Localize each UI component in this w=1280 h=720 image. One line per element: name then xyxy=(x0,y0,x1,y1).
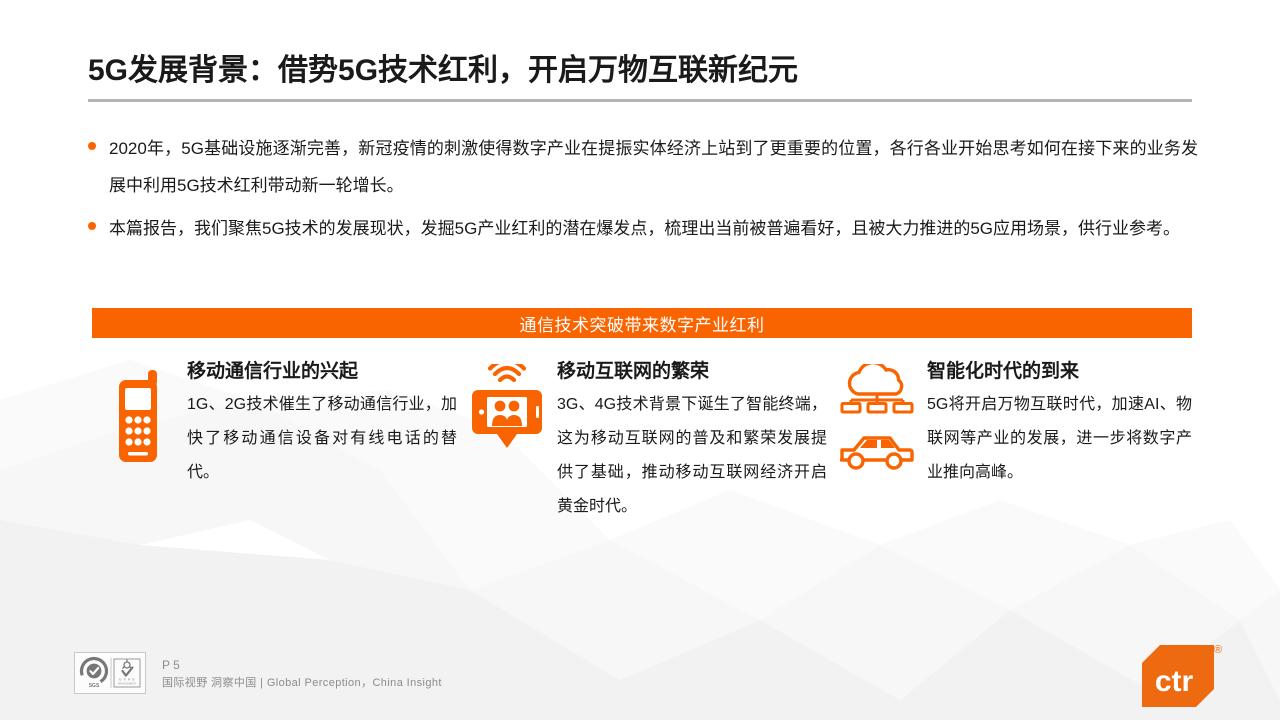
svg-text:SGS: SGS xyxy=(89,683,100,689)
list-item: 本篇报告，我们聚焦5G技术的发展现状，发掘5G产业红利的潜在爆发点，梳理出当前被… xyxy=(88,210,1198,247)
feature-icon-wrap xyxy=(827,358,927,474)
feature-body: 智能化时代的到来 5G将开启万物互联时代，加速AI、物联网等产业的发展，进一步将… xyxy=(927,358,1192,490)
section-banner-label: 通信技术突破带来数字产业红利 xyxy=(520,311,765,336)
feature-description: 5G将开启万物互联时代，加速AI、物联网等产业的发展，进一步将数字产业推向高峰。 xyxy=(927,388,1192,490)
feature-body: 移动通信行业的兴起 1G、2G技术催生了移动通信行业，加快了移动通信设备对有线电… xyxy=(187,358,457,490)
feature-heading: 移动通信行业的兴起 xyxy=(187,358,457,386)
page-number: P 5 xyxy=(162,656,442,674)
feature-heading: 智能化时代的到来 xyxy=(927,358,1192,386)
bullet-text: 2020年，5G基础设施逐渐完善，新冠疫情的刺激使得数字产业在提振实体经济上站到… xyxy=(109,130,1198,204)
feature-heading: 移动互联网的繁荣 xyxy=(557,358,827,386)
feature-body: 移动互联网的繁荣 3G、4G技术背景下诞生了智能终端，这为移动互联网的普及和繁荣… xyxy=(557,358,827,524)
feature-icon-wrap xyxy=(92,358,187,464)
page-title: 5G发展背景：借势5G技术红利，开启万物互联新纪元 xyxy=(88,52,1192,90)
bullet-dot-icon xyxy=(88,142,96,150)
car-icon xyxy=(838,430,916,474)
feature-column-3: 智能化时代的到来 5G将开启万物互联时代，加速AI、物联网等产业的发展，进一步将… xyxy=(827,358,1192,524)
title-block: 5G发展背景：借势5G技术红利，开启万物互联新纪元 xyxy=(88,52,1192,102)
slide-canvas: 5G发展背景：借势5G技术红利，开启万物互联新纪元 2020年，5G基础设施逐渐… xyxy=(0,0,1280,720)
feature-column-1: 移动通信行业的兴起 1G、2G技术催生了移动通信行业，加快了移动通信设备对有线电… xyxy=(92,358,457,524)
bullet-text: 本篇报告，我们聚焦5G技术的发展现状，发掘5G产业红利的潜在爆发点，梳理出当前被… xyxy=(109,210,1198,247)
footer: SGS U K A S MANAGEMENT P 5 国际视野 洞察中国 | G… xyxy=(74,652,442,694)
feature-description: 1G、2G技术催生了移动通信行业，加快了移动通信设备对有线电话的替代。 xyxy=(187,388,457,490)
tablet-wifi-people-icon xyxy=(470,364,544,456)
mobile-phone-icon xyxy=(112,368,168,464)
feature-description: 3G、4G技术背景下诞生了智能终端，这为移动互联网的普及和繁荣发展提供了基础，推… xyxy=(557,388,827,524)
certification-badges: SGS U K A S MANAGEMENT xyxy=(74,652,146,694)
feature-column-2: 移动互联网的繁荣 3G、4G技术背景下诞生了智能终端，这为移动互联网的普及和繁荣… xyxy=(457,358,827,524)
feature-columns: 移动通信行业的兴起 1G、2G技术催生了移动通信行业，加快了移动通信设备对有线电… xyxy=(92,358,1202,524)
svg-text:MANAGEMENT: MANAGEMENT xyxy=(118,682,137,686)
footer-tagline: 国际视野 洞察中国 | Global Perception，China Insi… xyxy=(162,674,442,692)
registered-trademark-icon: ® xyxy=(1214,644,1222,656)
bullet-list: 2020年，5G基础设施逐渐完善，新冠疫情的刺激使得数字产业在提振实体经济上站到… xyxy=(88,130,1198,253)
sgs-certification-icon: SGS xyxy=(78,656,110,689)
svg-text:U K A S: U K A S xyxy=(119,678,135,682)
ukas-certification-icon: U K A S MANAGEMENT xyxy=(114,659,140,687)
feature-icon-wrap xyxy=(457,358,557,456)
ctr-logo-text: ctr xyxy=(1155,665,1194,698)
list-item: 2020年，5G基础设施逐渐完善，新冠疫情的刺激使得数字产业在提振实体经济上站到… xyxy=(88,130,1198,204)
ctr-logo: ctr xyxy=(1142,645,1214,707)
title-divider xyxy=(88,99,1192,102)
footer-text-block: P 5 国际视野 洞察中国 | Global Perception，China … xyxy=(162,655,442,692)
section-banner: 通信技术突破带来数字产业红利 xyxy=(92,308,1192,338)
bullet-dot-icon xyxy=(88,222,96,230)
cloud-network-icon xyxy=(838,364,916,416)
